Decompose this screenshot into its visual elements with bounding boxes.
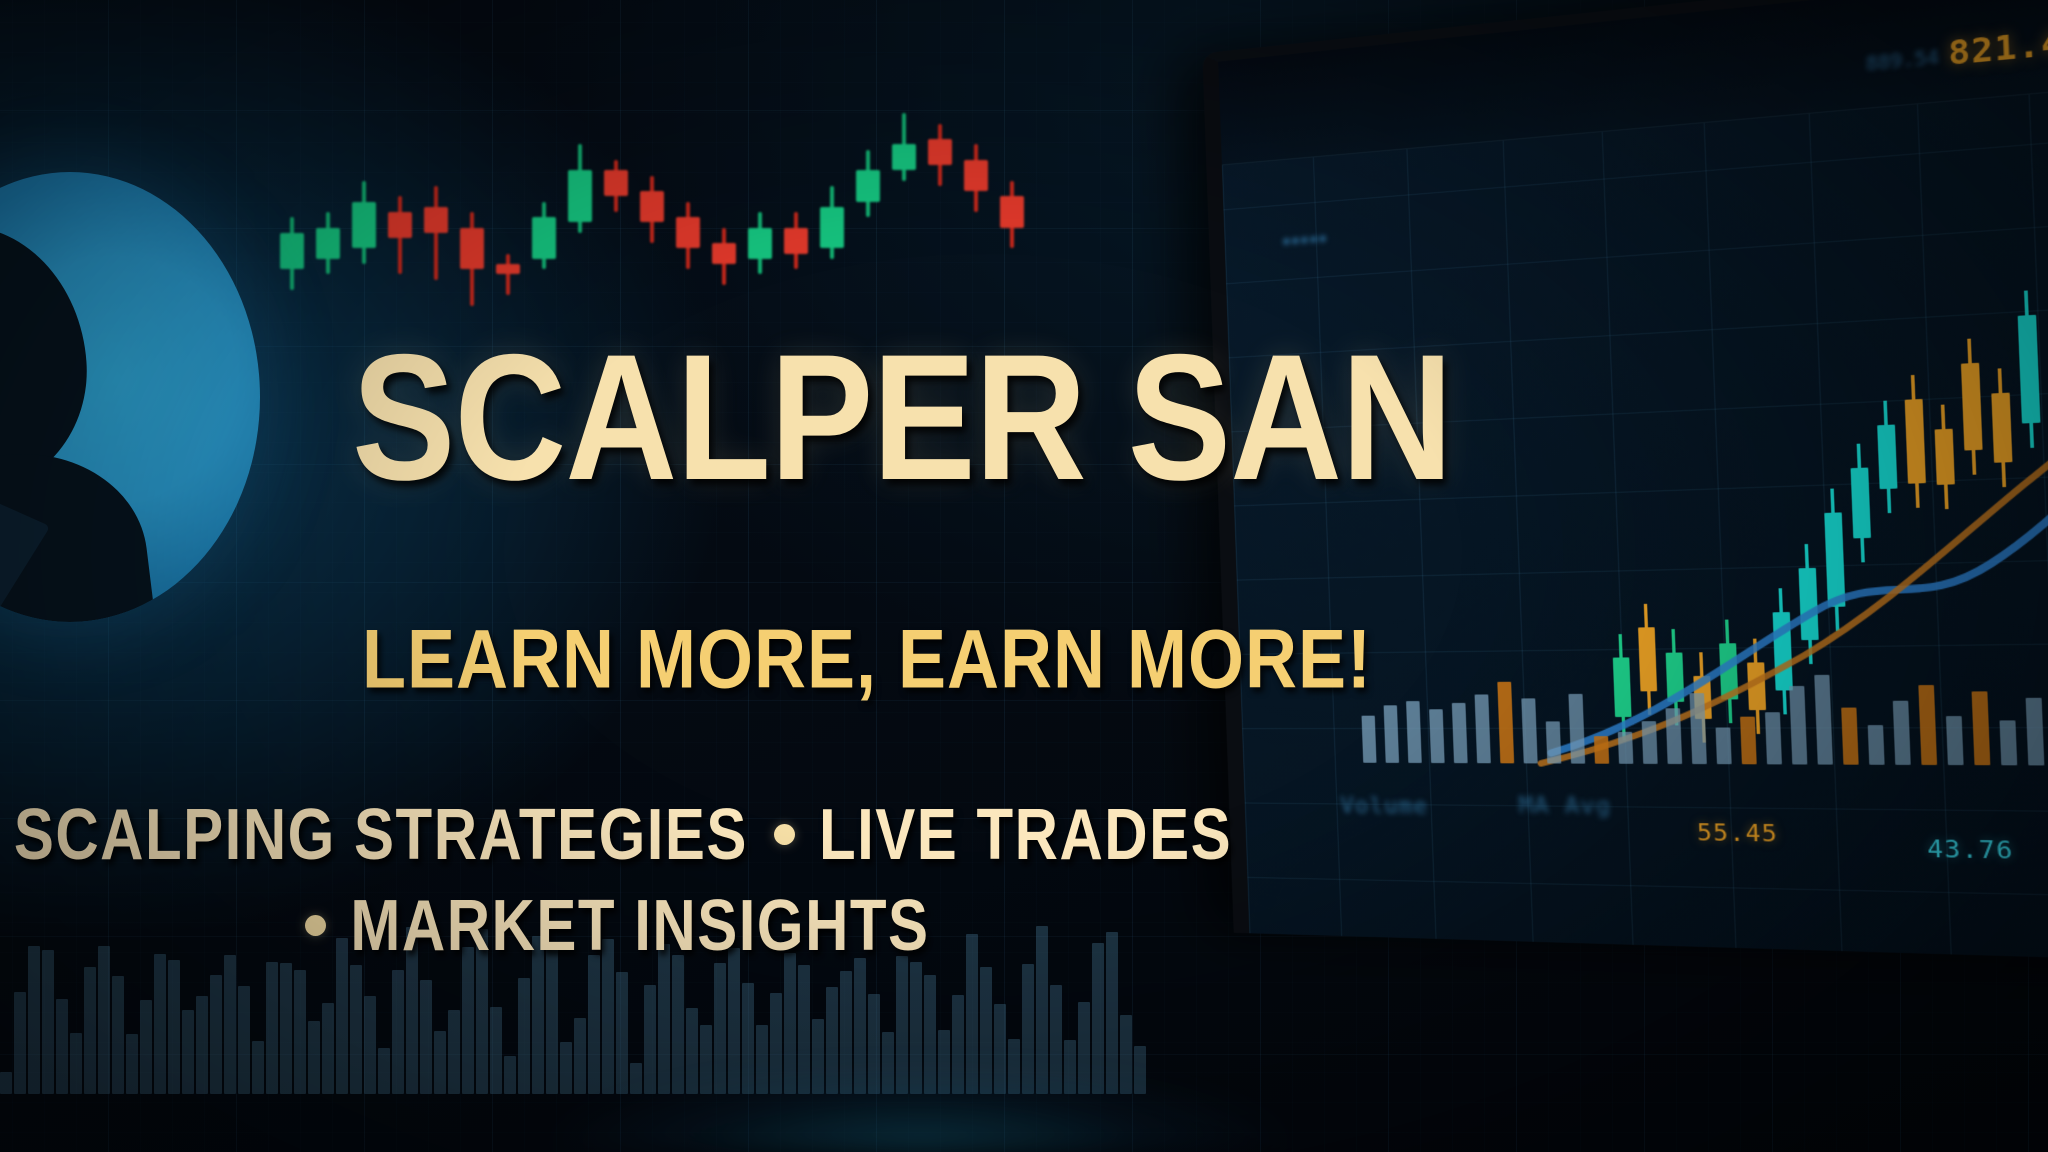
- feature-row-1: SCALPING STRATEGIES LIVE TRADES: [0, 800, 1235, 869]
- promo-banner: 889.54 821.46 ●●●●● Volume MA Avg 55.45 …: [0, 0, 2048, 1152]
- monitor-ghost-label-2: MA Avg: [1518, 793, 1611, 820]
- feature-label: MARKET INSIGHTS: [350, 884, 929, 967]
- monitor-label-cyan: 43.76: [1927, 836, 2014, 865]
- monitor-label-orange: 55.45: [1697, 820, 1779, 848]
- bullet-dot-icon: [774, 824, 795, 845]
- feature-label: SCALPING STRATEGIES: [14, 793, 748, 876]
- feature-label: LIVE TRADES: [819, 793, 1232, 876]
- page-title: SCALPER SAN: [352, 328, 1452, 507]
- feature-list: SCALPING STRATEGIES LIVE TRADES MARKET I…: [0, 800, 1235, 960]
- text-block: SCALPER SAN LEARN MORE, EARN MORE! SCALP…: [0, 0, 1280, 1152]
- feature-item: SCALPING STRATEGIES: [3, 800, 748, 869]
- feature-item: MARKET INSIGHTS: [305, 891, 929, 960]
- tagline: LEARN MORE, EARN MORE!: [362, 618, 1372, 702]
- bullet-dot-icon: [305, 915, 326, 936]
- feature-item: LIVE TRADES: [774, 800, 1232, 869]
- monitor-ghost-label-1: Volume: [1340, 793, 1428, 820]
- feature-row-2: MARKET INSIGHTS: [0, 891, 1235, 960]
